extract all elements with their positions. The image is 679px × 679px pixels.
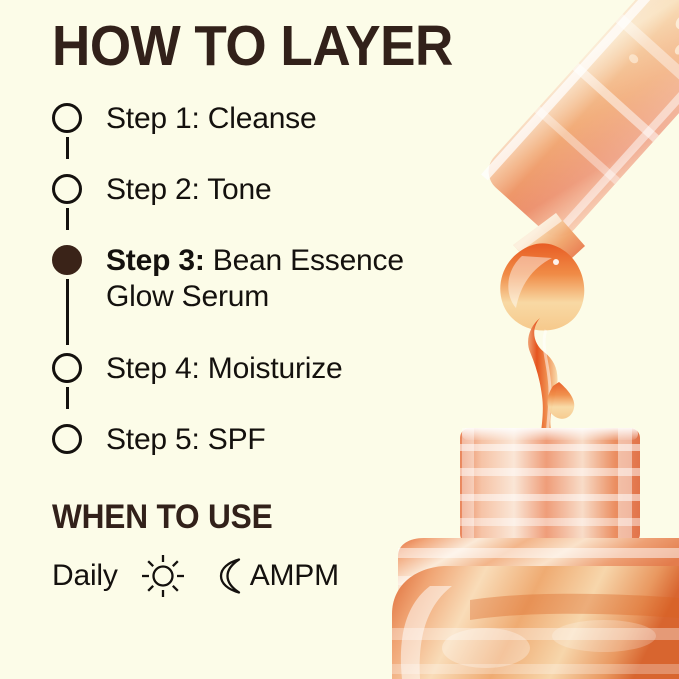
dropper-pipette — [480, 0, 679, 457]
section-title: WHEN TO USE — [52, 500, 452, 534]
sidebar-item-label: Step 5: SPF — [106, 422, 266, 458]
list-item-step-1[interactable]: Step 1: Cleanse — [52, 101, 482, 139]
sidebar-item-label: Step 4: Moisturize — [106, 351, 343, 387]
connector-line — [66, 279, 69, 345]
circle-filled-icon — [52, 245, 82, 275]
content-column: HOW TO LAYER Step 1: Cleanse Step 2: Ton… — [52, 18, 482, 596]
list-item-step-4[interactable]: Step 4: Moisturize — [52, 351, 482, 389]
usage-times: AMPM — [250, 559, 339, 593]
list-item-step-3[interactable]: Step 3: Bean EssenceGlow Serum — [52, 243, 482, 315]
sidebar-item-label: Step 1: Cleanse — [106, 101, 316, 137]
sidebar-item-label: Step 2: Tone — [106, 172, 272, 208]
how-to-layer-card: HOW TO LAYER Step 1: Cleanse Step 2: Ton… — [0, 0, 679, 679]
serum-droplet — [547, 382, 574, 419]
step-product-line-1: Bean Essence — [213, 244, 404, 277]
connector-line — [66, 137, 69, 159]
circle-outline-icon — [52, 174, 82, 204]
usage-row: Daily — [52, 556, 482, 596]
routine-step-list: Step 1: Cleanse Step 2: Tone Step 3: Bea… — [52, 101, 482, 460]
circle-outline-icon — [52, 353, 82, 383]
step-emphasis: Step 3: — [106, 244, 205, 277]
sun-icon — [136, 556, 190, 596]
connector-line — [66, 387, 69, 409]
connector-line — [66, 208, 69, 230]
sidebar-item-label-active: Step 3: Bean EssenceGlow Serum — [106, 243, 404, 315]
usage-frequency: Daily — [52, 559, 118, 593]
when-to-use-section: WHEN TO USE Daily — [52, 500, 482, 596]
circle-outline-icon — [52, 424, 82, 454]
circle-outline-icon — [52, 103, 82, 133]
page-title: HOW TO LAYER — [52, 18, 452, 75]
list-item-step-2[interactable]: Step 2: Tone — [52, 172, 482, 210]
moon-icon — [214, 556, 248, 596]
step-product-line-2: Glow Serum — [106, 280, 269, 313]
list-item-step-5[interactable]: Step 5: SPF — [52, 422, 482, 460]
